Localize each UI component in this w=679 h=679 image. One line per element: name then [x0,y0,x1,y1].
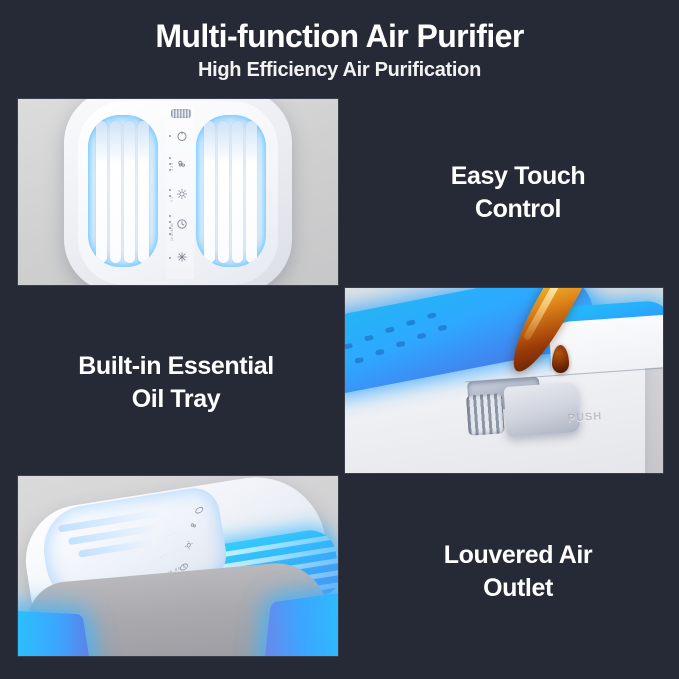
brightness-icon [176,188,188,200]
page-title: Multi-function Air Purifier [0,0,679,55]
vent-hole [417,333,427,340]
glowing-outlet-left [18,610,91,656]
louver-grille-right [196,115,266,267]
power-icon [193,502,205,520]
essential-oil-tray[interactable]: PUSH [461,374,581,444]
vent-hole [385,327,395,334]
louvered-air-outlet-illustration: · · · · · 1h 2h 4 [18,476,338,656]
fan-speed-scale: · · · [164,530,175,540]
ionizer-icon [176,251,188,263]
indicator-dot [169,195,171,197]
indicator-dot [169,189,171,191]
brightness-icon [183,537,195,555]
louver-slat [246,121,257,263]
louver-slat [96,121,107,263]
header: Multi-function Air Purifier High Efficie… [0,0,679,83]
louver-slat [204,121,215,263]
vent-hole [427,312,437,319]
caption-line: Louvered Air [368,539,668,572]
tray-grip[interactable] [466,393,505,435]
vent-hole [364,335,374,342]
indicator-dot [169,157,171,159]
essential-oil-tray-illustration: PUSH [345,288,663,473]
indicator-dot [169,233,171,235]
power-icon [176,130,188,142]
louver-slat [124,121,135,263]
feature-caption-louvered-air-outlet: Louvered Air Outlet [368,539,668,605]
indicator-dot [169,221,171,223]
caption-line: Oil Tray [16,383,336,416]
louver-slat [110,121,121,263]
vent-hole [396,341,406,348]
indicator-dot [169,257,171,259]
feature-caption-easy-touch-control: Easy Touch Control [368,160,668,226]
fan-speed-icon [188,518,200,536]
indicator-dot [169,215,171,217]
feature-image-built-in-essential-oil-tray: PUSH [345,288,663,473]
speaker-vent-icon [171,109,191,118]
timer-scale: 1h 2h 4h 8h [170,229,174,241]
indicator-dot [169,227,171,229]
louver-slat [138,121,149,263]
louver-slat [232,121,243,263]
brightness-scale: · · [159,552,166,560]
feature-image-louvered-air-outlet: · · · · · 1h 2h 4 [18,476,338,656]
vent-hole [354,357,364,364]
page-subtitle: High Efficiency Air Purification [0,55,679,83]
fan-speed-icon [176,158,188,170]
indicator-dot [169,169,171,171]
feature-image-easy-touch-control: 1 2 3 0 1 [18,99,338,285]
indicator-dot [169,135,171,137]
air-purifier-top-view-illustration: 1 2 3 0 1 [18,99,338,285]
vent-hole [406,319,416,326]
brightness-scale: 0 1 [170,197,174,209]
louver-grille-left [88,115,158,267]
caption-line: Control [368,193,668,226]
indicator-dot [169,163,171,165]
vent-hole [375,349,385,356]
caption-line: Built-in Essential [16,350,336,383]
push-label: PUSH [567,410,602,424]
vent-hole [437,325,447,332]
caption-line: Outlet [368,572,668,605]
louver-slat [218,121,229,263]
tray-face: PUSH [503,382,580,437]
caption-line: Easy Touch [368,160,668,193]
timer-icon [176,218,188,230]
feature-caption-built-in-essential-oil-tray: Built-in Essential Oil Tray [16,350,336,416]
vent-hole [345,343,353,350]
